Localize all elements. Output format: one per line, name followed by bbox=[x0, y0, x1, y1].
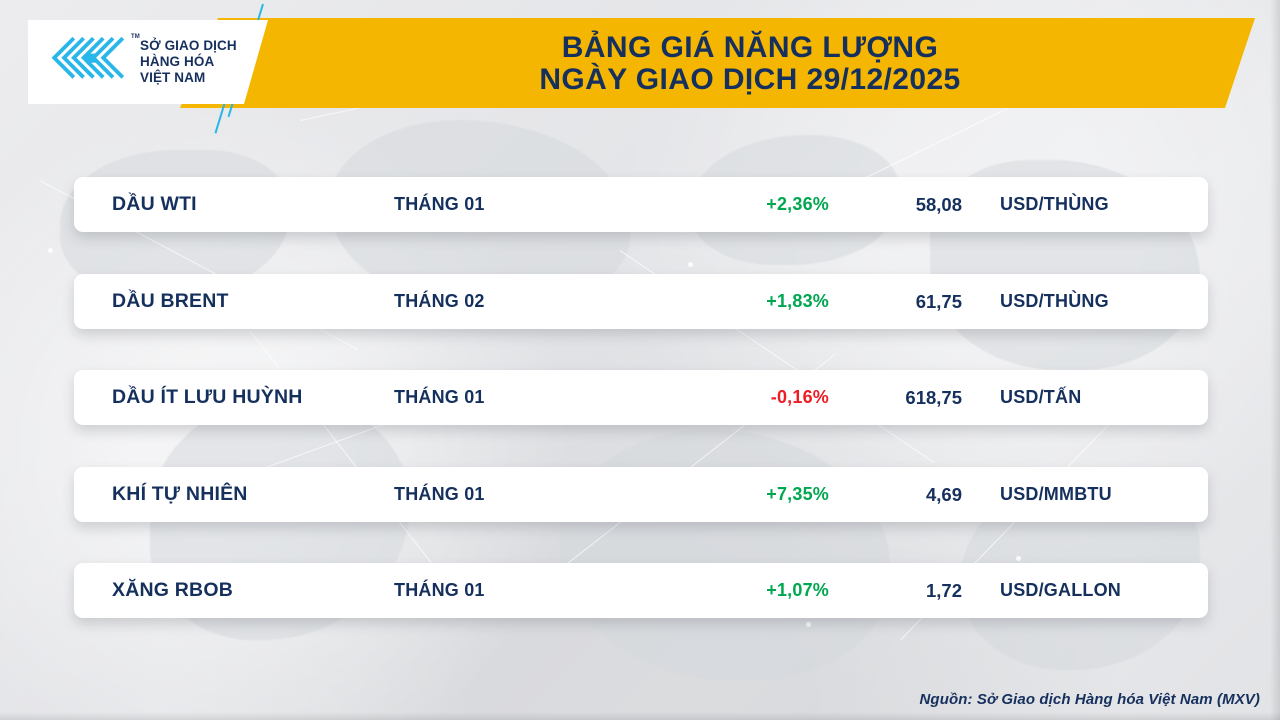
price-value: 4,69 bbox=[829, 484, 964, 506]
contract-month: THÁNG 02 bbox=[394, 291, 624, 312]
table-row[interactable]: DẦU WTI THÁNG 01 +2,36% 58,08 USD/THÙNG bbox=[74, 177, 1208, 232]
contract-month: THÁNG 01 bbox=[394, 484, 624, 505]
change-percent: +1,07% bbox=[624, 580, 829, 601]
price-table: DẦU WTI THÁNG 01 +2,36% 58,08 USD/THÙNG … bbox=[0, 0, 1280, 720]
price-unit: USD/MMBTU bbox=[964, 484, 1208, 505]
commodity-name: KHÍ TỰ NHIÊN bbox=[74, 483, 394, 506]
commodity-name: DẦU BRENT bbox=[74, 290, 394, 313]
table-row[interactable]: DẦU BRENT THÁNG 02 +1,83% 61,75 USD/THÙN… bbox=[74, 274, 1208, 329]
price-unit: USD/GALLON bbox=[964, 580, 1208, 601]
commodity-name: XĂNG RBOB bbox=[74, 579, 394, 602]
commodity-name: DẦU WTI bbox=[74, 193, 394, 216]
contract-month: THÁNG 01 bbox=[394, 387, 624, 408]
contract-month: THÁNG 01 bbox=[394, 194, 624, 215]
change-percent: +2,36% bbox=[624, 194, 829, 215]
change-percent: +7,35% bbox=[624, 484, 829, 505]
table-row[interactable]: KHÍ TỰ NHIÊN THÁNG 01 +7,35% 4,69 USD/MM… bbox=[74, 467, 1208, 522]
price-unit: USD/THÙNG bbox=[964, 194, 1208, 215]
table-row[interactable]: DẦU ÍT LƯU HUỲNH THÁNG 01 -0,16% 618,75 … bbox=[74, 370, 1208, 425]
contract-month: THÁNG 01 bbox=[394, 580, 624, 601]
price-value: 61,75 bbox=[829, 291, 964, 313]
source-note: Nguồn: Sở Giao dịch Hàng hóa Việt Nam (M… bbox=[920, 691, 1261, 708]
commodity-name: DẦU ÍT LƯU HUỲNH bbox=[74, 386, 394, 409]
price-unit: USD/THÙNG bbox=[964, 291, 1208, 312]
change-percent: +1,83% bbox=[624, 291, 829, 312]
price-unit: USD/TẤN bbox=[964, 387, 1208, 408]
price-value: 618,75 bbox=[829, 387, 964, 409]
price-value: 58,08 bbox=[829, 194, 964, 216]
change-percent: -0,16% bbox=[624, 387, 829, 408]
price-value: 1,72 bbox=[829, 580, 964, 602]
table-row[interactable]: XĂNG RBOB THÁNG 01 +1,07% 1,72 USD/GALLO… bbox=[74, 563, 1208, 618]
